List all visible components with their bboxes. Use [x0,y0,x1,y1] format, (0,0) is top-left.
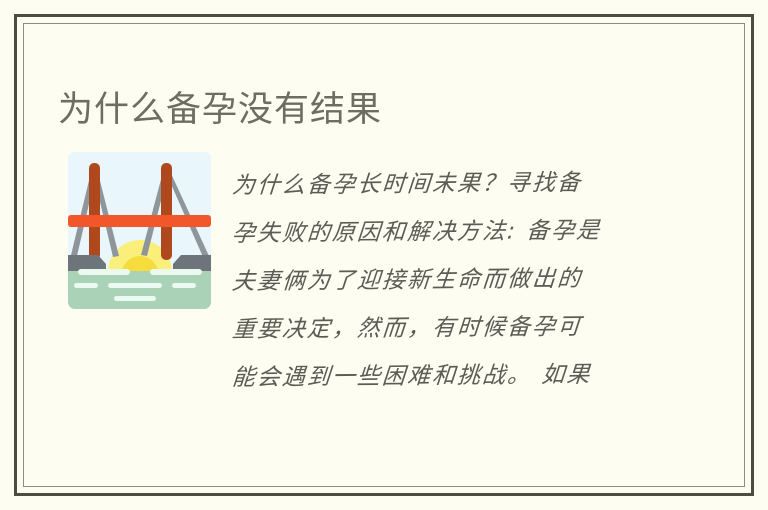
article-body-text: 为什么备孕长时间未果？寻找备 孕失败的原因和解决方法: 备孕是 夫妻俩为了迎接新… [232,162,652,402]
body-line: 为什么备孕长时间未果？寻找备 [230,158,654,210]
body-line: 能会遇到一些困难和挑战。 如果 [230,350,654,402]
article-card-page: 为什么备孕没有结果 [0,0,768,510]
article-thumbnail[interactable] [68,152,211,309]
body-line: 夫妻俩为了迎接新生命而做出的 [230,254,654,306]
bridge-sunset-illustration-icon [68,152,211,309]
body-line: 孕失败的原因和解决方法: 备孕是 [230,206,654,258]
card-content: 为什么备孕没有结果 [0,0,768,510]
page-title: 为什么备孕没有结果 [58,87,698,133]
body-line: 重要决定，然而，有时候备孕可 [230,302,654,354]
